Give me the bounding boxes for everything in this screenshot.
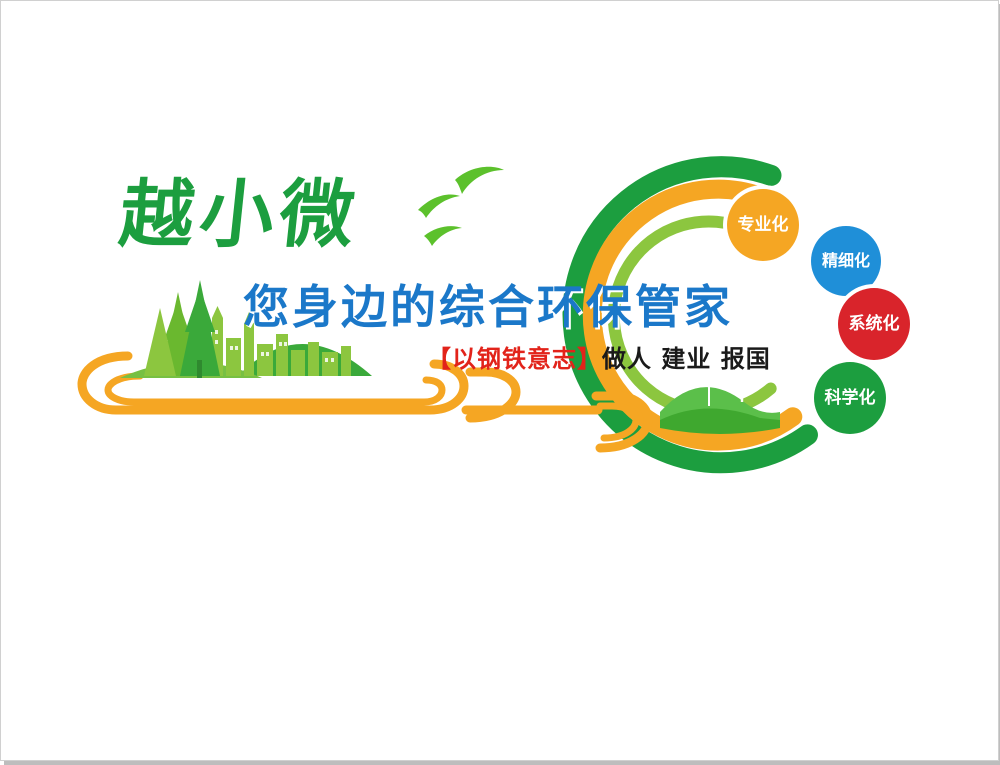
badge-systematization[interactable]: 系统化: [838, 288, 910, 360]
sub-title: 您身边的综合环保管家: [243, 284, 733, 330]
slogan: 【以钢铁意志】做人 建业 报国: [427, 347, 771, 371]
badge-label: 精细化: [822, 252, 870, 270]
badge-specialization[interactable]: 专业化: [727, 189, 799, 261]
slogan-rest-text: 做人 建业 报国: [602, 345, 771, 373]
badge-label: 系统化: [849, 315, 900, 334]
flying-birds: [418, 167, 504, 246]
badge-scientific[interactable]: 科学化: [814, 362, 886, 434]
poster-canvas: 越小微 您身边的综合环保管家 【以钢铁意志】做人 建业 报国 专业化 精细化 系…: [0, 0, 1000, 762]
badge-refinement[interactable]: 精细化: [811, 226, 881, 296]
badge-label: 专业化: [738, 216, 789, 235]
pine-trees: [144, 280, 220, 378]
slogan-bracket-text: 【以钢铁意志】: [427, 345, 602, 373]
main-title: 越小微: [116, 178, 364, 252]
badge-label: 科学化: [825, 389, 876, 408]
